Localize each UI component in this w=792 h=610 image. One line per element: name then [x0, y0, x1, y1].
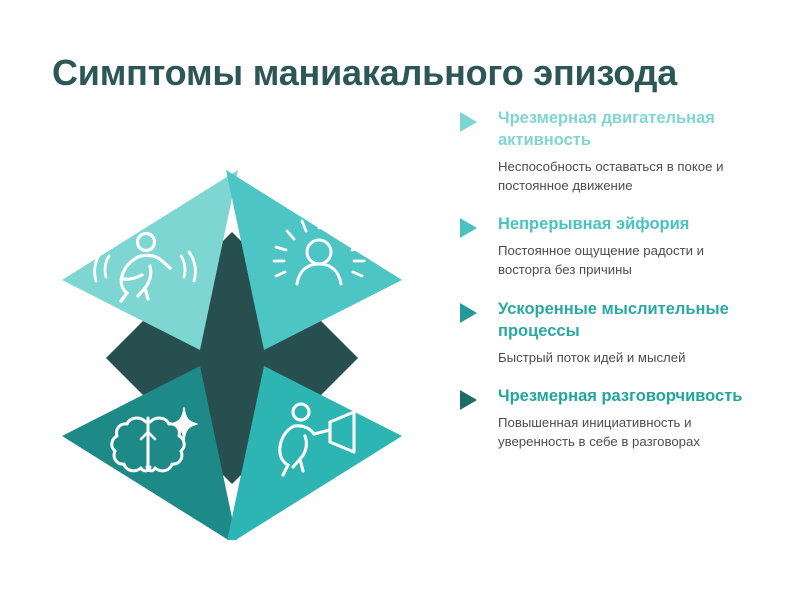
symptom-description: Неспособность оставаться в покое и посто…	[498, 158, 756, 195]
symptom-description: Быстрый поток идей и мыслей	[498, 349, 756, 368]
symptom-item-1[interactable]: Чрезмерная двигательная активность Неспо…	[460, 108, 760, 195]
triangle-right-icon	[460, 390, 477, 410]
symptom-heading: Чрезмерная разговорчивость	[498, 386, 748, 408]
symptom-description: Постоянное ощущение радости и восторга б…	[498, 242, 756, 279]
symptom-item-2[interactable]: Непрерывная эйфория Постоянное ощущение …	[460, 214, 760, 279]
symptom-item-3[interactable]: Ускоренные мыслительные процессы Быстрый…	[460, 299, 760, 368]
infographic-page: Симптомы маниакального эпизода	[0, 0, 792, 610]
symptom-description: Повышенная инициативность и уверенность …	[498, 414, 756, 451]
symptom-item-4[interactable]: Чрезмерная разговорчивость Повышенная ин…	[460, 386, 760, 451]
triangle-right-icon	[460, 303, 477, 323]
symptom-diagram	[42, 160, 422, 540]
triangle-right-icon	[460, 112, 477, 132]
symptom-list: Чрезмерная двигательная активность Неспо…	[460, 108, 760, 452]
triangle-right-icon	[460, 218, 477, 238]
symptom-heading: Чрезмерная двигательная активность	[498, 108, 748, 152]
symptom-heading: Ускоренные мыслительные процессы	[498, 299, 748, 343]
page-title: Симптомы маниакального эпизода	[52, 52, 752, 93]
symptom-heading: Непрерывная эйфория	[498, 214, 748, 236]
